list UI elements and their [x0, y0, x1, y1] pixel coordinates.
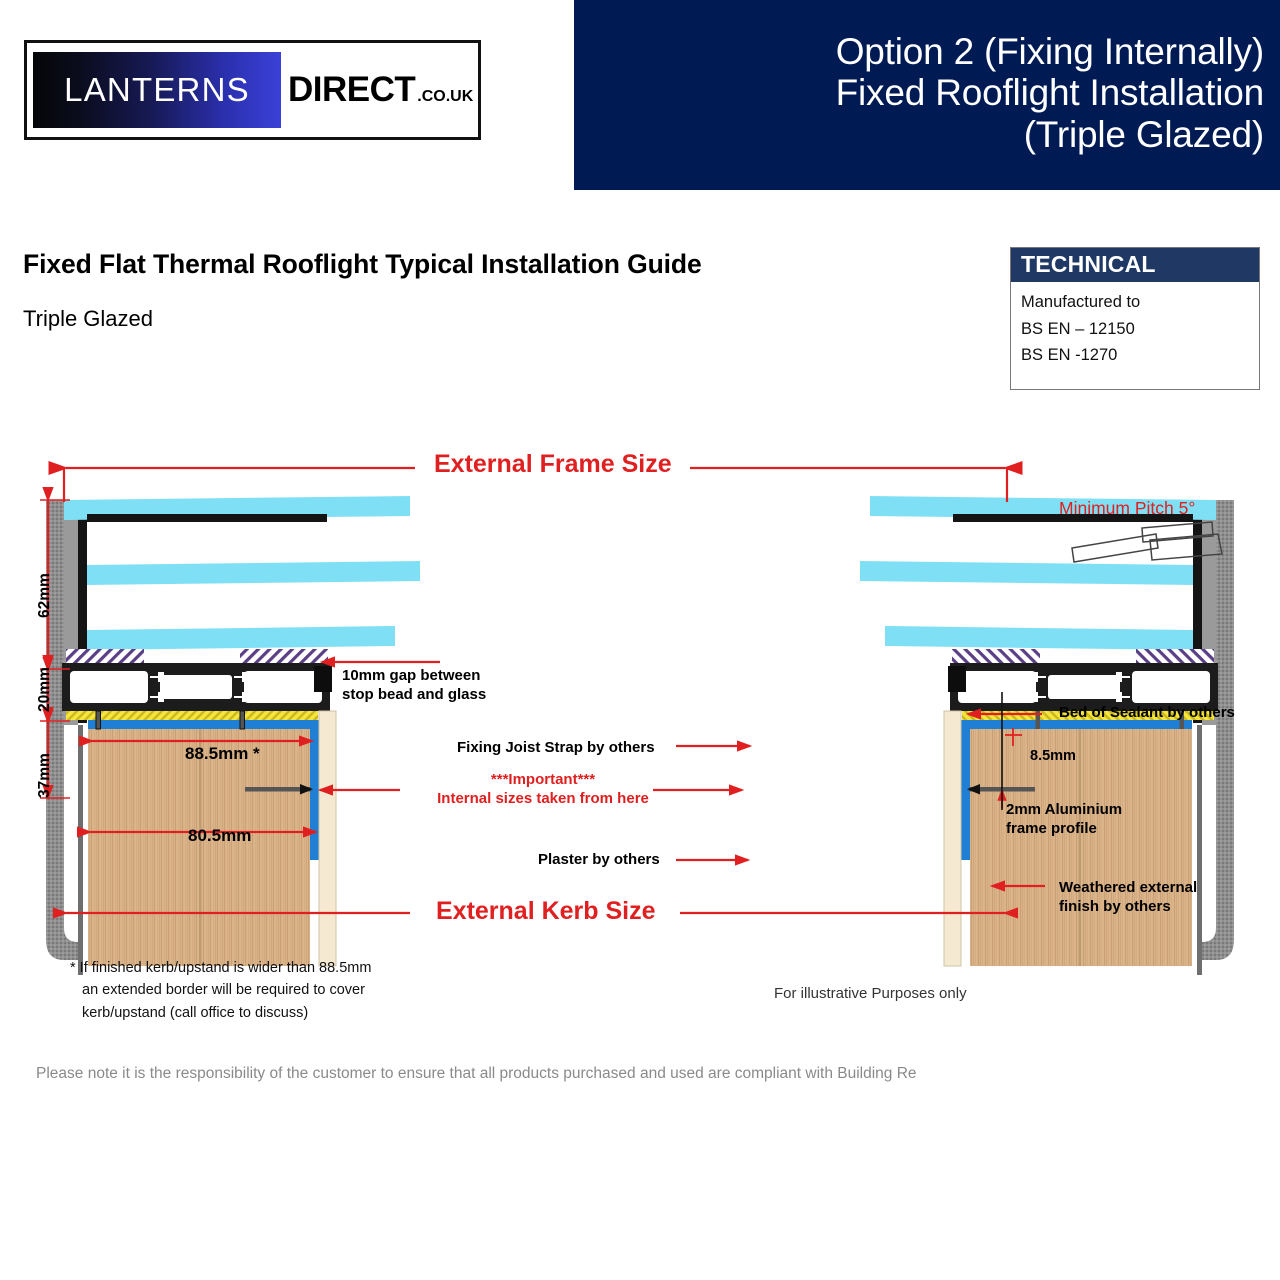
- technical-line-3: BS EN -1270: [1021, 342, 1259, 369]
- logo-word-lanterns: LANTERNS: [64, 71, 250, 109]
- kerb-width-footnote: * If finished kerb/upstand is wider than…: [70, 957, 371, 1024]
- callout-fixing-joist-strap: Fixing Joist Strap by others: [457, 738, 655, 757]
- callout-important: ***Important*** Internal sizes taken fro…: [437, 770, 649, 808]
- callout-stop-bead-gap: 10mm gap between stop bead and glass: [342, 666, 486, 704]
- technical-box-heading: TECHNICAL: [1011, 248, 1259, 282]
- callout-aluminium-profile-line2: frame profile: [1006, 819, 1122, 838]
- logo-text-right: DIRECT .CO.UK: [288, 70, 473, 110]
- callout-aluminium-profile-line1: 2mm Aluminium: [1006, 800, 1122, 819]
- header-title-band: Option 2 (Fixing Internally) Fixed Roofl…: [574, 0, 1280, 190]
- building-regs-disclaimer: Please note it is the responsibility of …: [36, 1065, 917, 1083]
- callout-important-line1: ***Important***: [437, 770, 649, 789]
- callout-weathered-finish-line2: finish by others: [1059, 897, 1197, 916]
- external-frame-size-label: External Frame Size: [434, 450, 672, 479]
- header-title-line-2: Fixed Rooflight Installation: [836, 72, 1264, 113]
- logo-word-direct: DIRECT: [288, 70, 415, 110]
- footnote-line-1: * If finished kerb/upstand is wider than…: [70, 957, 371, 979]
- technical-box-body: Manufactured to BS EN – 12150 BS EN -127…: [1011, 282, 1259, 369]
- callout-bed-of-sealant: Bed of Sealant by others: [1059, 703, 1235, 722]
- left-section-assembly: [46, 496, 420, 975]
- logo-gradient-panel: LANTERNS: [33, 52, 281, 128]
- callout-stop-bead-gap-line1: 10mm gap between: [342, 666, 486, 685]
- technical-spec-box: TECHNICAL Manufactured to BS EN – 12150 …: [1010, 247, 1260, 390]
- callout-aluminium-profile: 2mm Aluminium frame profile: [1006, 800, 1122, 838]
- vertical-dim-37mm: 37mm: [36, 753, 54, 798]
- callout-weathered-finish: Weathered external finish by others: [1059, 878, 1197, 916]
- callout-plaster: Plaster by others: [538, 850, 660, 869]
- header-title-line-3: (Triple Glazed): [1024, 114, 1264, 155]
- brand-logo: LANTERNS DIRECT .CO.UK: [24, 40, 481, 140]
- callout-important-line2: Internal sizes taken from here: [437, 789, 649, 808]
- footnote-line-3: kerb/upstand (call office to discuss): [70, 1002, 371, 1024]
- illustrative-purposes-note: For illustrative Purposes only: [774, 985, 967, 1002]
- header-title-line-1: Option 2 (Fixing Internally): [836, 31, 1264, 72]
- horizontal-dim-80-5mm: 80.5mm: [188, 826, 251, 846]
- callout-weathered-finish-line1: Weathered external: [1059, 878, 1197, 897]
- logo-domain-suffix: .CO.UK: [417, 88, 473, 106]
- vertical-dim-20mm: 20mm: [36, 667, 54, 712]
- external-kerb-size-label: External Kerb Size: [436, 897, 656, 926]
- vertical-dim-62mm: 62mm: [36, 573, 54, 618]
- callout-8-5mm: 8.5mm: [1030, 747, 1076, 766]
- horizontal-dim-88-5mm: 88.5mm *: [185, 744, 260, 764]
- minimum-pitch-label: Minimum Pitch 5°: [1059, 498, 1195, 519]
- page-subtitle: Triple Glazed: [23, 306, 153, 332]
- technical-line-1: Manufactured to: [1021, 289, 1259, 316]
- page-title: Fixed Flat Thermal Rooflight Typical Ins…: [23, 249, 702, 280]
- footnote-line-2: an extended border will be required to c…: [70, 979, 371, 1001]
- technical-line-2: BS EN – 12150: [1021, 316, 1259, 343]
- callout-stop-bead-gap-line2: stop bead and glass: [342, 685, 486, 704]
- aluminium-frame-profile-left: [62, 663, 330, 711]
